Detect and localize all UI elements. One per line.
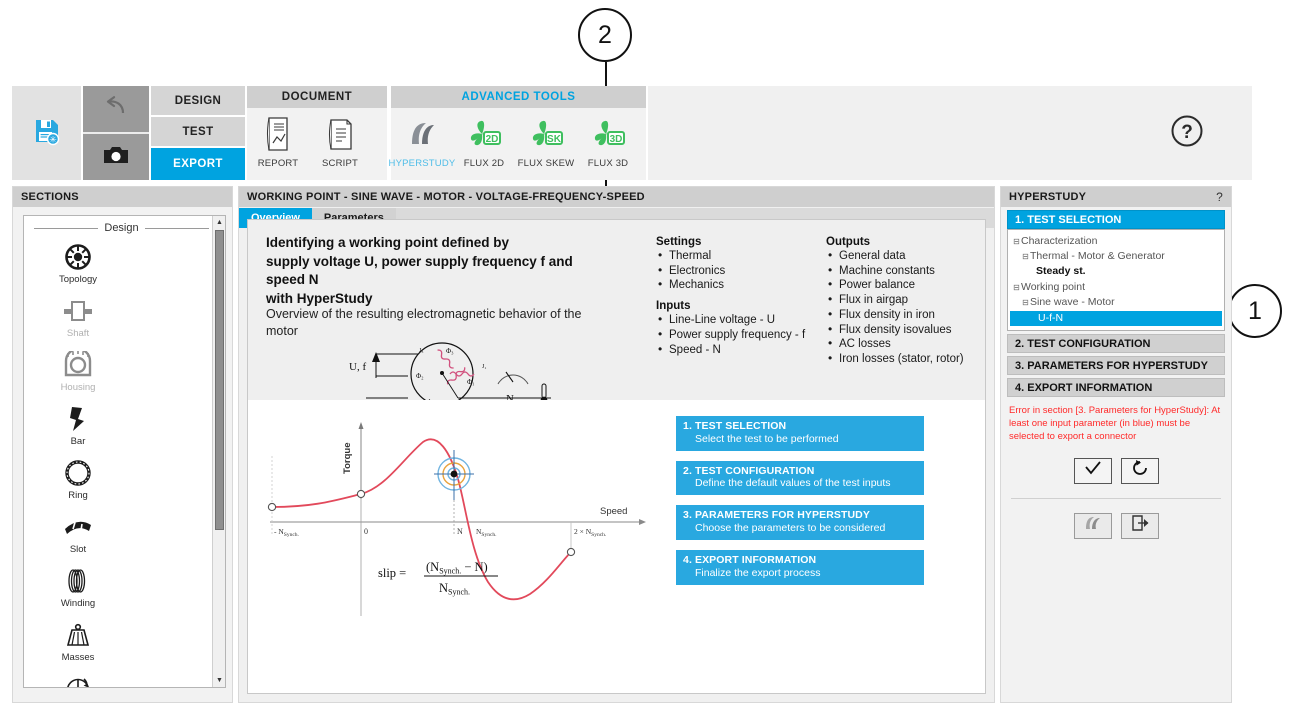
svg-text:J₃: J₃ (419, 348, 423, 354)
scroll-up-arrow-icon[interactable]: ▲ (213, 216, 226, 229)
list-item: Line-Line voltage - U (658, 313, 826, 328)
document-group-title: DOCUMENT (247, 86, 387, 108)
list-item: Power balance (828, 278, 986, 293)
list-item: Mechanics (658, 278, 826, 293)
svg-text:slip =: slip = (378, 566, 406, 580)
svg-text:NSynch.: NSynch. (439, 581, 470, 597)
primary-action-buttons (1001, 458, 1231, 484)
mode-design-button[interactable]: DESIGN (151, 86, 245, 115)
section-group-design: Design (34, 222, 209, 234)
tree-item-label: Thermal - Motor & Generator (1030, 250, 1165, 262)
chart-marker (567, 548, 574, 555)
camera-icon (103, 145, 129, 170)
sidebar-label-shaft: Shaft (67, 328, 89, 339)
tree-item-label: Characterization (1021, 235, 1097, 247)
hyperstudy-panel-title: HYPERSTUDY (1009, 191, 1086, 203)
list-item: Speed - N (658, 343, 826, 358)
flux-2d-button[interactable]: 2D FLUX 2D (453, 113, 515, 169)
masses-weight-icon (64, 620, 92, 650)
chart-xtick: N (457, 527, 463, 536)
sidebar-item-slot[interactable]: Slot (32, 512, 124, 562)
step-title: 3. PARAMETERS FOR HYPERSTUDY (683, 509, 918, 522)
chart-marker (268, 503, 275, 510)
tree-item-sine-wave-motor[interactable]: ⊟Sine wave - Motor (1008, 295, 1224, 310)
tree-item-u-f-n-selected[interactable]: U-f-N (1010, 311, 1222, 326)
overview-top-section: Identifying a working point defined bysu… (248, 220, 985, 400)
application-window: ✳ (12, 86, 1252, 703)
reset-arrow-icon (1131, 459, 1149, 482)
svg-text:Φ₃: Φ₃ (446, 347, 454, 355)
mode-test-button[interactable]: TEST (151, 117, 245, 146)
sections-panel-title: SECTIONS (13, 187, 232, 207)
mode-export-button[interactable]: EXPORT (151, 148, 245, 180)
workflow-step-2[interactable]: 2. TEST CONFIGURATION Define the default… (676, 461, 924, 496)
test-selection-tree: ⊟Characterization ⊟Thermal - Motor & Gen… (1007, 229, 1225, 331)
overview-document: Identifying a working point defined bysu… (247, 219, 986, 694)
group-rule-left (34, 228, 98, 229)
reset-button[interactable] (1121, 458, 1159, 484)
top-toolbar: ✳ (12, 86, 1252, 180)
flux-2d-label: FLUX 2D (464, 158, 504, 169)
step-desc: Finalize the export process (695, 567, 918, 580)
list-item: Machine constants (828, 264, 986, 279)
question-mark-circle-icon: ? (1169, 136, 1205, 153)
chart-working-point-marker (434, 450, 474, 500)
expander-icon[interactable]: ⊟ (1012, 282, 1021, 294)
chart-xtick: NSynch. (476, 527, 497, 538)
svg-text:✳: ✳ (49, 135, 57, 145)
flux-skew-button[interactable]: SK FLUX SKEW (515, 113, 577, 169)
flux-skew-label: FLUX SKEW (518, 158, 575, 169)
error-message: Error in section [3. Parameters for Hype… (1009, 405, 1223, 443)
scrollbar-thumb[interactable] (215, 230, 224, 530)
tree-item-working-point[interactable]: ⊟Working point (1008, 280, 1224, 295)
section-parameters-for-hyperstudy[interactable]: 3. PARAMETERS FOR HYPERSTUDY (1007, 356, 1225, 375)
svg-text:(NSynch. − N): (NSynch. − N) (426, 560, 488, 576)
advanced-tools-title: ADVANCED TOOLS (391, 86, 646, 108)
svg-text:Φ₁: Φ₁ (467, 378, 475, 386)
sidebar-label-bar: Bar (71, 436, 86, 447)
overview-subheading: Overview of the resulting electromagneti… (266, 306, 596, 340)
step-title: 4. EXPORT INFORMATION (683, 554, 918, 567)
hyperstudy-help-icon[interactable]: ? (1216, 190, 1223, 204)
shaft-icon (63, 296, 93, 326)
chart-xtick: - NSynch. (274, 527, 300, 538)
hyperstudy-icon (1082, 514, 1104, 537)
list-item: Flux density isovalues (828, 323, 986, 338)
undo-camera-group (83, 86, 149, 180)
report-label: REPORT (258, 158, 299, 169)
undo-arrow-icon (104, 96, 128, 123)
sidebar-item-ring[interactable]: Ring (32, 458, 124, 508)
outputs-title: Outputs (826, 236, 986, 248)
undo-button[interactable] (83, 86, 149, 132)
chart-ylabel: Torque (342, 443, 353, 475)
chart-xtick: 0 (364, 527, 368, 536)
script-document-icon (325, 113, 355, 155)
svg-text:3D: 3D (610, 134, 623, 145)
validate-button[interactable] (1074, 458, 1112, 484)
flux-3d-button[interactable]: 3D FLUX 3D (577, 113, 639, 169)
topology-gear-icon (64, 242, 92, 272)
hyperstudy-label: HYPERSTUDY (389, 158, 456, 169)
section-export-information[interactable]: 4. EXPORT INFORMATION (1007, 378, 1225, 397)
list-item: AC losses (828, 337, 986, 352)
housing-icon (63, 350, 93, 380)
sidebar-item-moments-of-inertia[interactable]: Moments of inertia (32, 674, 124, 688)
workflow-step-3[interactable]: 3. PARAMETERS FOR HYPERSTUDY Choose the … (676, 505, 924, 540)
screenshot-button[interactable] (83, 134, 149, 180)
checkmark-icon (1084, 460, 1102, 481)
chart-marker (357, 490, 364, 497)
hyperstudy-icon (404, 113, 440, 155)
list-item: Flux in airgap (828, 293, 986, 308)
list-item: Power supply frequency - f (658, 328, 826, 343)
hyperstudy-panel-header: HYPERSTUDY ? (1001, 187, 1231, 207)
outputs-column: Outputs General data Machine constants P… (826, 236, 986, 367)
svg-text:?: ? (1181, 122, 1193, 143)
document-toolbar-group: DOCUMENT REPORT (247, 86, 387, 180)
script-label: SCRIPT (322, 158, 358, 169)
mode-button-group: DESIGN TEST EXPORT (151, 86, 245, 180)
flux-3d-icon: 3D (590, 113, 626, 155)
tree-item-label: Working point (1021, 281, 1085, 293)
export-icon (1130, 514, 1150, 537)
slip-formula: slip = (NSynch. − N) NSynch. (378, 560, 498, 597)
settings-title: Settings (656, 236, 826, 248)
sidebar-item-winding[interactable]: Winding (32, 566, 124, 616)
design-grid: Topology Shaft (24, 234, 225, 688)
inputs-list: Line-Line voltage - U Power supply frequ… (658, 313, 826, 357)
list-item: Flux density in iron (828, 308, 986, 323)
list-item: General data (828, 249, 986, 264)
moments-of-inertia-icon (64, 674, 92, 688)
sidebar-label-ring: Ring (68, 490, 88, 501)
step-title: 2. TEST CONFIGURATION (683, 465, 918, 478)
flux-skew-icon: SK (528, 113, 564, 155)
sidebar-label-masses: Masses (62, 652, 95, 663)
list-item: Thermal (658, 249, 826, 264)
step-desc: Select the test to be performed (695, 433, 918, 446)
step-title: 1. TEST SELECTION (683, 420, 918, 433)
sidebar-label-housing: Housing (61, 382, 96, 393)
advanced-tools-group: ADVANCED TOOLS HYPERSTUDY (391, 86, 646, 180)
winding-icon (64, 566, 92, 596)
bar-icon (65, 404, 91, 434)
chart-xtick: 2 × NSynch. (574, 527, 607, 538)
center-panel-title: WORKING POINT - SINE WAVE - MOTOR - VOLT… (239, 187, 994, 207)
inputs-title: Inputs (656, 300, 826, 312)
settings-column: Settings Thermal Electronics Mechanics I… (656, 236, 826, 357)
section-test-selection[interactable]: 1. TEST SELECTION (1007, 210, 1225, 229)
settings-list: Thermal Electronics Mechanics (658, 249, 826, 293)
scroll-down-arrow-icon[interactable]: ▼ (213, 674, 226, 687)
group-label-design: Design (104, 222, 138, 234)
outputs-list: General data Machine constants Power bal… (828, 249, 986, 367)
sidebar-label-winding: Winding (61, 598, 95, 609)
diagram-input-label: U, f (349, 361, 366, 373)
svg-text:2D: 2D (486, 134, 499, 145)
svg-text:Φ₂: Φ₂ (416, 372, 424, 380)
group-rule-right (145, 228, 209, 229)
slot-icon (63, 512, 93, 542)
center-panel: WORKING POINT - SINE WAVE - MOTOR - VOLT… (238, 186, 995, 703)
list-item: Electronics (658, 264, 826, 279)
expander-icon[interactable]: ⊟ (1012, 236, 1021, 248)
report-button[interactable]: REPORT (247, 113, 309, 169)
save-disk-icon: ✳ (32, 116, 62, 151)
export-button[interactable] (1121, 513, 1159, 539)
flux-2d-icon: 2D (466, 113, 502, 155)
tree-item-steady-st[interactable]: Steady st. (1008, 264, 1224, 279)
sidebar-item-housing[interactable]: Housing (32, 350, 124, 400)
save-button[interactable]: ✳ (12, 86, 81, 180)
workflow-step-1[interactable]: 1. TEST SELECTION Select the test to be … (676, 416, 924, 451)
sections-panel: SECTIONS Design (12, 186, 233, 703)
tree-item-label: Sine wave - Motor (1030, 296, 1115, 308)
section-test-configuration[interactable]: 2. TEST CONFIGURATION (1007, 334, 1225, 353)
sidebar-item-topology[interactable]: Topology (32, 242, 124, 292)
hyperstudy-button[interactable]: HYPERSTUDY (391, 113, 453, 169)
panel-divider (1011, 498, 1221, 499)
help-button[interactable]: ? (1169, 113, 1205, 149)
expander-icon[interactable]: ⊟ (1021, 251, 1030, 263)
sidebar-item-masses[interactable]: Masses (32, 620, 124, 670)
tree-item-thermal-motor-generator[interactable]: ⊟Thermal - Motor & Generator (1008, 249, 1224, 264)
step-desc: Define the default values of the test in… (695, 477, 918, 490)
workflow-step-4[interactable]: 4. EXPORT INFORMATION Finalize the expor… (676, 550, 924, 585)
workflow-steps: 1. TEST SELECTION Select the test to be … (676, 416, 924, 595)
ring-icon (64, 458, 92, 488)
chart-xlabel: Speed (600, 506, 627, 517)
expander-icon[interactable]: ⊟ (1021, 297, 1030, 309)
flux-3d-label: FLUX 3D (588, 158, 628, 169)
step-desc: Choose the parameters to be considered (695, 522, 918, 535)
list-item: Iron losses (stator, rotor) (828, 352, 986, 367)
sections-list: Design (23, 215, 226, 688)
callout-2: 2 (578, 8, 632, 62)
sidebar-item-bar[interactable]: Bar (32, 404, 124, 454)
svg-text:SK: SK (547, 134, 562, 145)
report-document-icon (263, 113, 293, 155)
overview-heading: Identifying a working point defined bysu… (266, 234, 606, 309)
secondary-action-buttons (1001, 513, 1231, 539)
script-button[interactable]: SCRIPT (309, 113, 371, 169)
sidebar-item-shaft[interactable]: Shaft (32, 296, 124, 346)
sidebar-label-slot: Slot (70, 544, 86, 555)
toolbar-empty-area: ? (648, 86, 1252, 180)
open-hyperstudy-button[interactable] (1074, 513, 1112, 539)
hyperstudy-panel: HYPERSTUDY ? 1. TEST SELECTION ⊟Characte… (1000, 186, 1232, 703)
sections-scrollbar[interactable]: ▲ ▼ (212, 216, 225, 687)
tree-item-characterization[interactable]: ⊟Characterization (1008, 234, 1224, 249)
sidebar-label-topology: Topology (59, 274, 97, 285)
svg-text:J₁: J₁ (482, 364, 486, 370)
torque-speed-chart: Torque Speed (258, 404, 658, 624)
overview-bottom-section: Torque Speed (248, 400, 985, 636)
